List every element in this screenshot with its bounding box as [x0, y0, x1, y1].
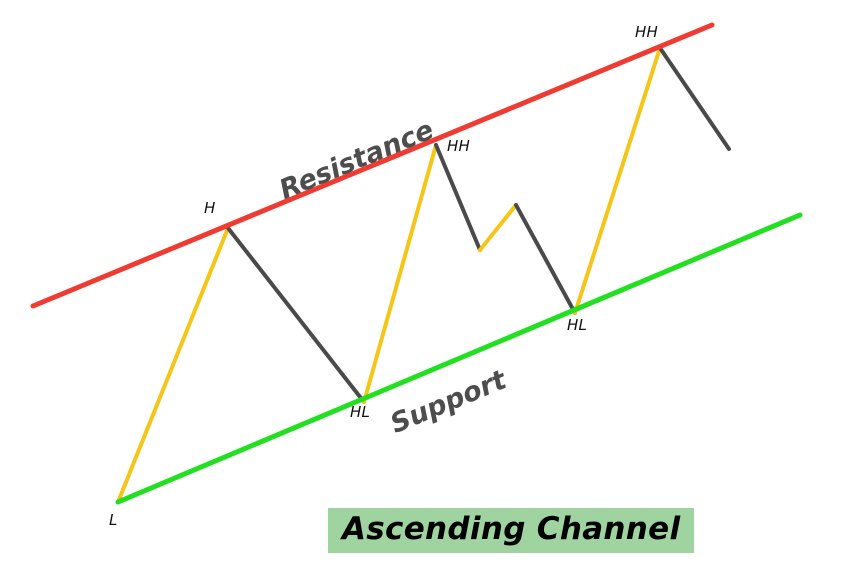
pattern-title-badge: Ascending Channel	[328, 508, 694, 553]
swing-label-h: H	[204, 201, 215, 216]
swing-label-hh: HH	[635, 25, 658, 40]
price-segment-down	[516, 205, 575, 313]
swing-label-l: L	[109, 513, 118, 528]
ascending-channel-diagram: LHHLHHHLHH ResistanceSupport Ascending C…	[0, 0, 862, 583]
swing-label-hl: HL	[567, 318, 587, 333]
swing-label-hl: HL	[350, 405, 370, 420]
price-segment-down	[228, 228, 364, 402]
price-segment-up	[575, 48, 660, 313]
price-segment-down	[436, 145, 480, 250]
trendline-support	[118, 215, 800, 502]
price-segment-down	[660, 48, 729, 149]
pattern-title-text: Ascending Channel	[342, 511, 680, 547]
chart-canvas	[0, 0, 862, 583]
swing-label-hh: HH	[447, 139, 470, 154]
price-segment-up	[364, 145, 436, 402]
price-segment-up	[480, 205, 516, 250]
